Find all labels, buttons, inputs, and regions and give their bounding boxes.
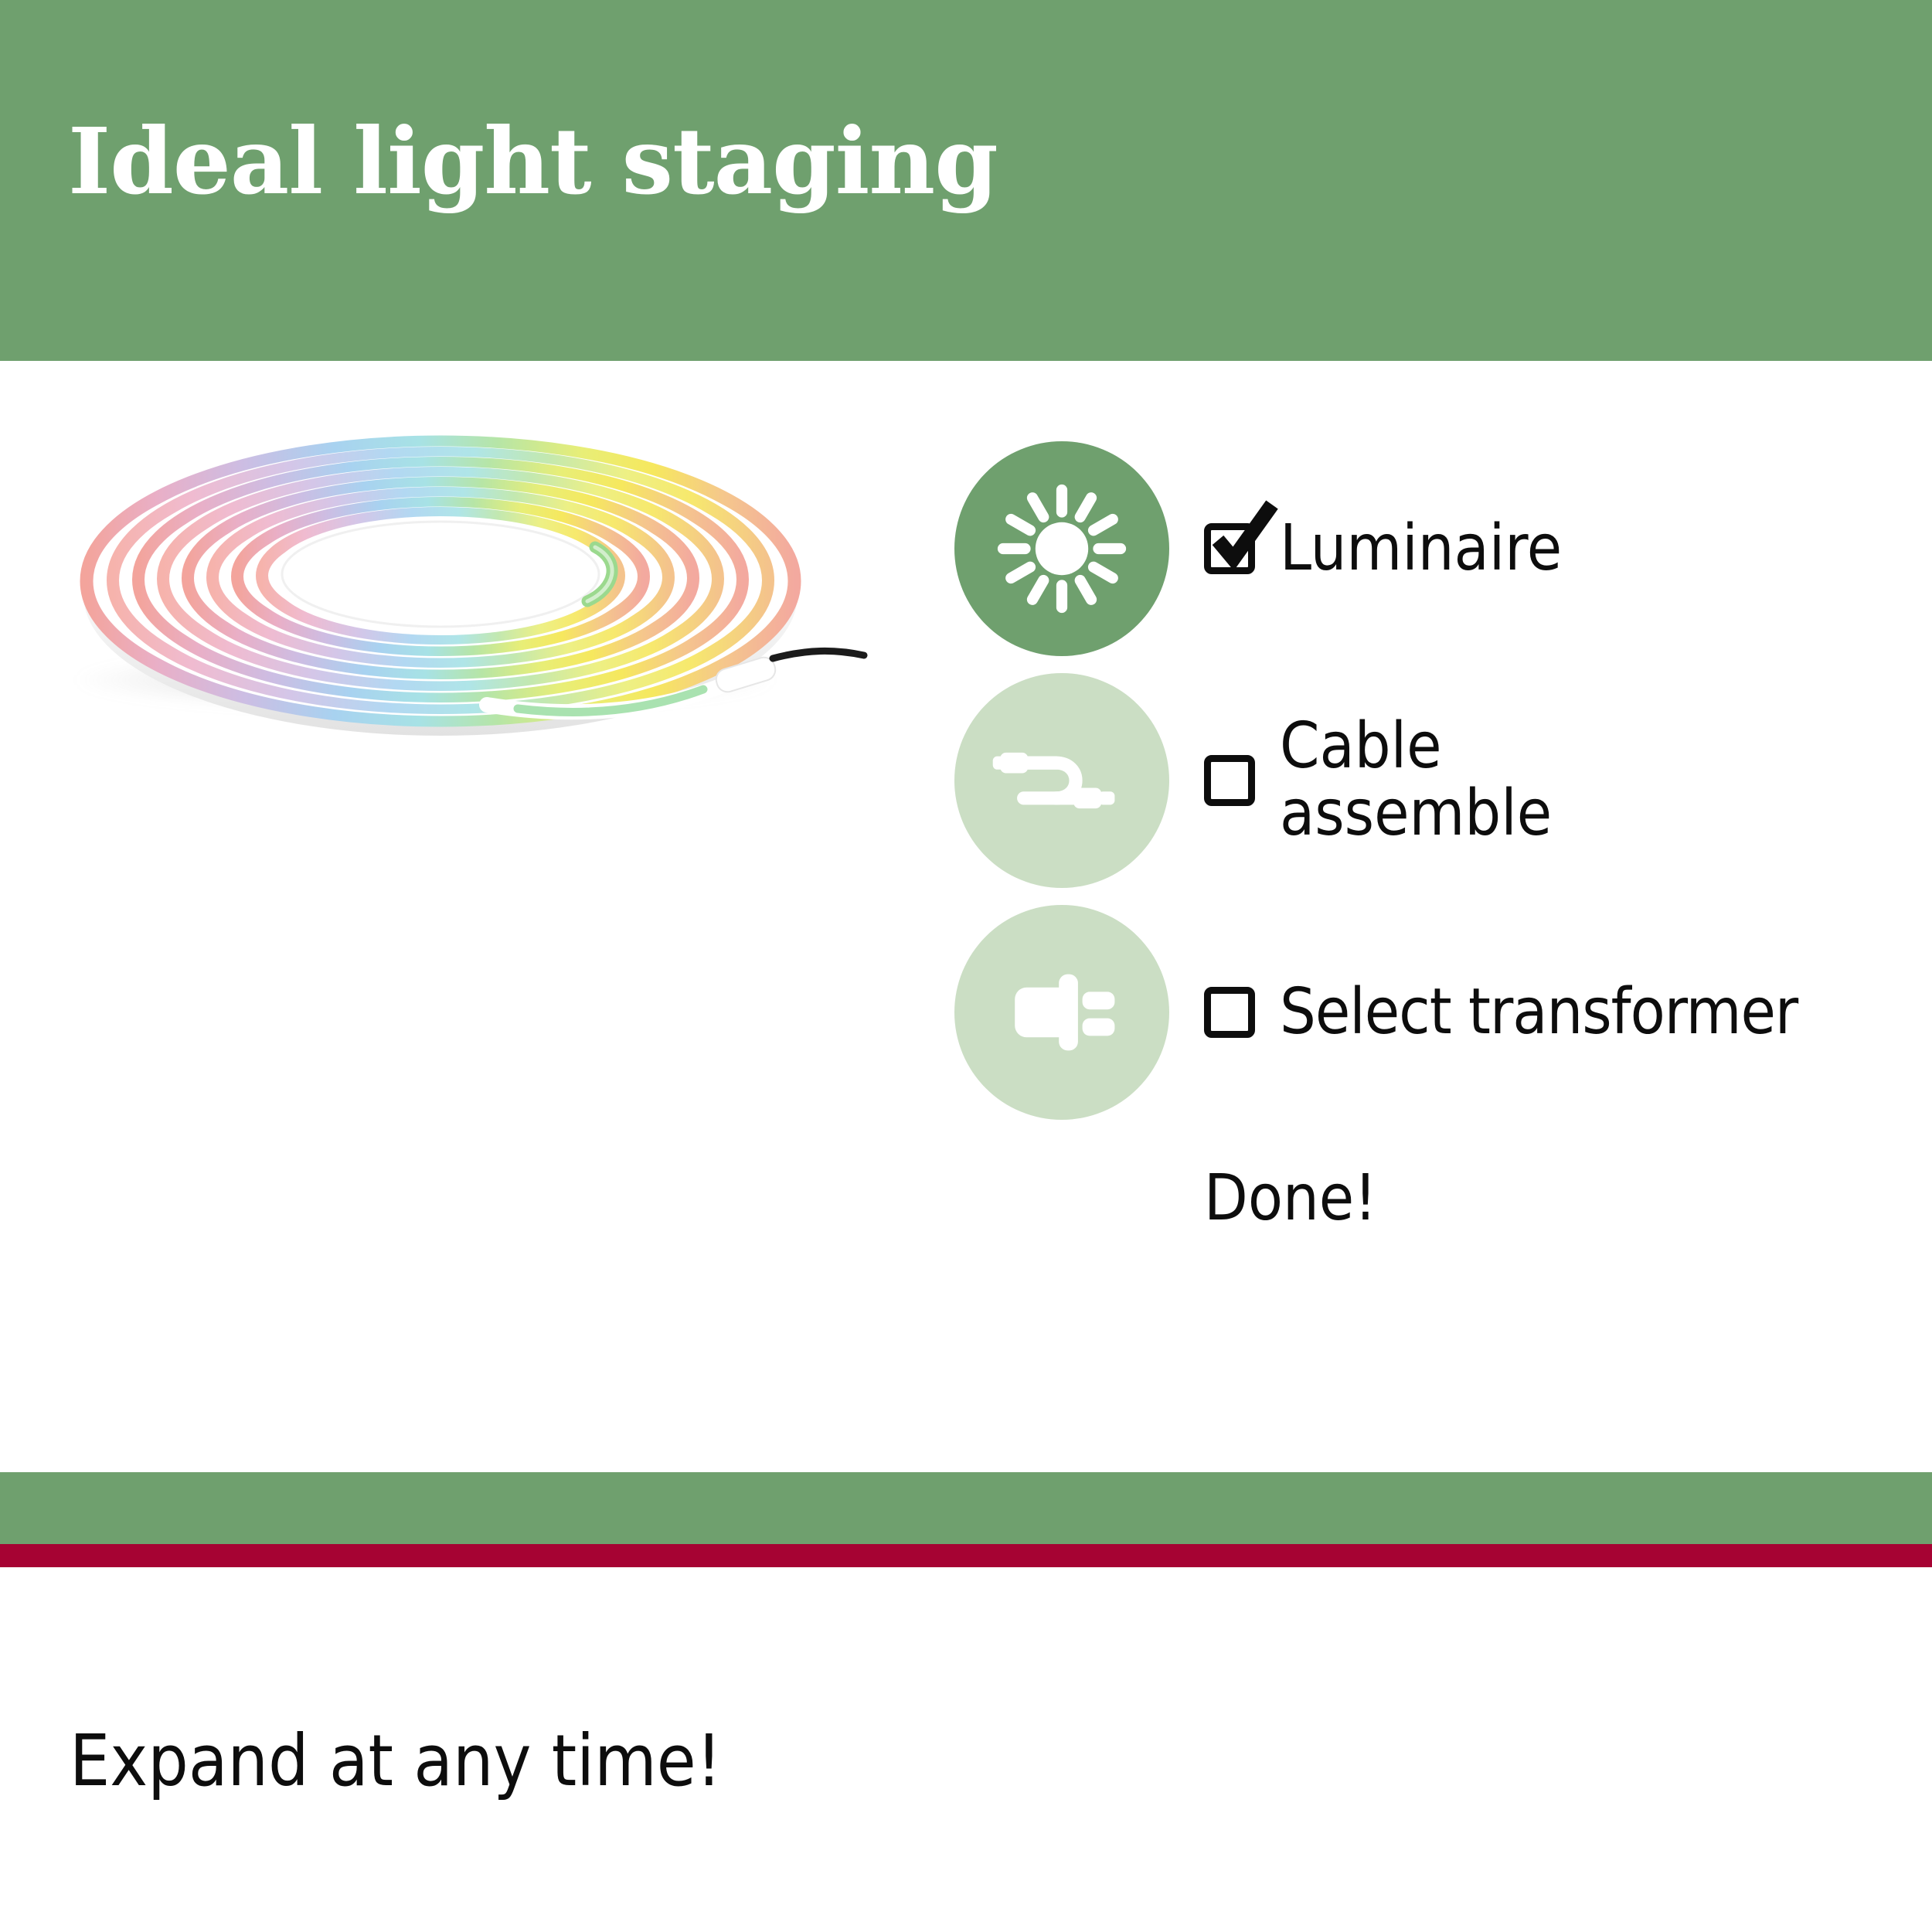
done-row: Done! xyxy=(954,1128,1932,1267)
header-band: Ideal light staging xyxy=(0,0,1932,361)
select-transformer-label-group[interactable]: Select transformer xyxy=(1204,979,1798,1046)
led-strip-coil-illustration xyxy=(54,417,904,742)
plug-icon-circle xyxy=(954,905,1169,1120)
checklist-row-select-transformer[interactable]: Select transformer xyxy=(954,896,1932,1128)
checklist-label-select-transformer: Select transformer xyxy=(1280,979,1798,1046)
footer-green-band xyxy=(0,1472,1932,1544)
checklist: Luminaire Cable assemble xyxy=(954,433,1932,1267)
footer-crimson-band xyxy=(0,1544,1932,1567)
checkbox-luminaire[interactable] xyxy=(1204,523,1255,574)
checkbox-select-transformer[interactable] xyxy=(1204,987,1255,1038)
led-strip-coil-image xyxy=(54,417,904,742)
checklist-row-luminaire[interactable]: Luminaire xyxy=(954,433,1932,665)
checkbox-cable-assemble[interactable] xyxy=(1204,755,1255,806)
sun-icon-circle xyxy=(954,441,1169,656)
cable-icon-circle xyxy=(954,673,1169,888)
luminaire-label-group[interactable]: Luminaire xyxy=(1204,515,1562,583)
plug-icon xyxy=(988,939,1135,1086)
done-label: Done! xyxy=(1204,1162,1377,1235)
checkbox-box xyxy=(1204,987,1255,1038)
checklist-label-luminaire: Luminaire xyxy=(1280,515,1562,583)
checkbox-box xyxy=(1204,523,1255,574)
sun-icon xyxy=(988,475,1135,622)
cable-icon xyxy=(988,707,1135,854)
checklist-row-cable-assemble[interactable]: Cable assemble xyxy=(954,665,1932,896)
page-title: Ideal light staging xyxy=(68,116,998,207)
checkbox-box xyxy=(1204,755,1255,806)
footer-caption: Expand at any time! xyxy=(70,1719,722,1802)
checklist-label-cable-assemble: Cable assemble xyxy=(1280,713,1552,848)
cable-assemble-label-group[interactable]: Cable assemble xyxy=(1204,713,1552,848)
